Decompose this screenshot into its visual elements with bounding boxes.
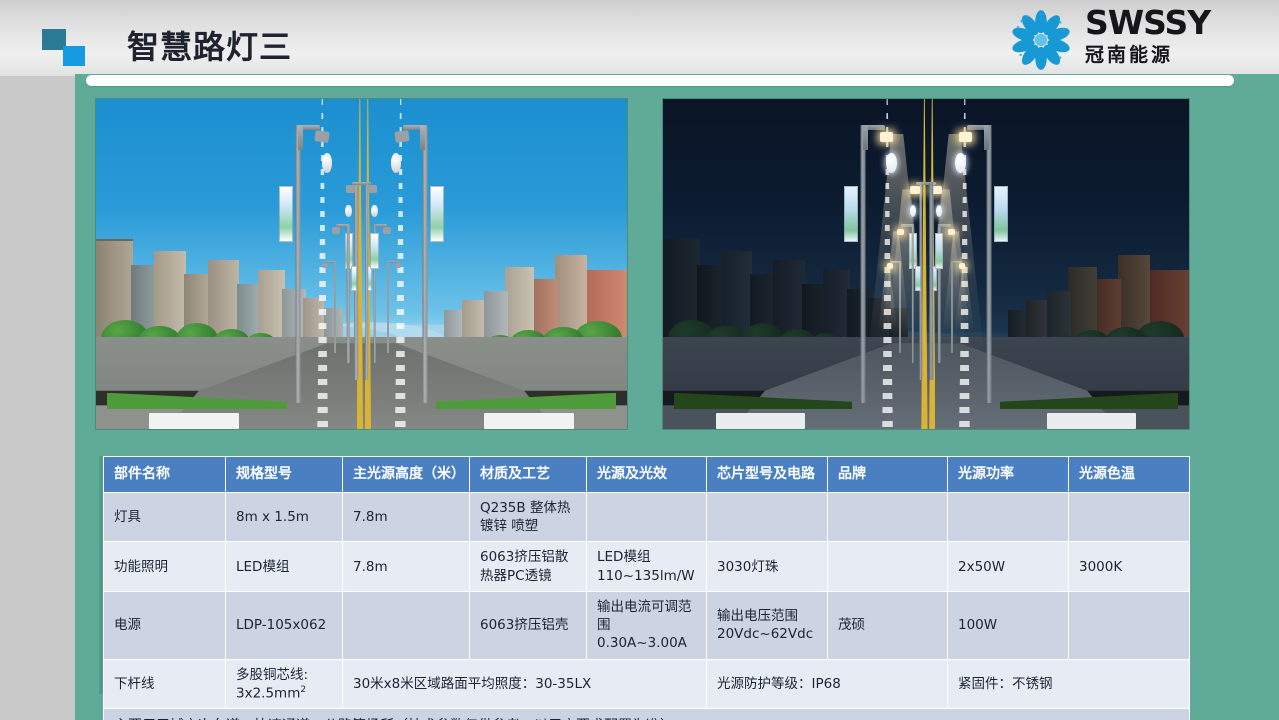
- spec-table-body: 灯具 8m x 1.5m 7.8m Q235B 整体热镀锌 喷塑 功能照明 LE…: [104, 493, 1190, 709]
- col-header-material: 材质及工艺: [470, 457, 587, 493]
- panel-top-rod: [86, 75, 1234, 86]
- cell-fastener: 紧固件：不锈钢: [948, 659, 1190, 709]
- cell-power: 100W: [948, 591, 1069, 659]
- cell-spec-model: LED模组: [226, 542, 343, 591]
- street-lamp-day: [383, 125, 468, 402]
- table-row: 功能照明 LED模组 7.8m 6063挤压铝散热器PC透镜 LED模组110~…: [104, 542, 1190, 591]
- cell-spec-model: LDP-105x062: [226, 591, 343, 659]
- page-header: 智慧路灯三: [0, 0, 1279, 76]
- cell-light-source: [587, 493, 707, 542]
- spec-table-head: 部件名称 规格型号 主光源高度（米） 材质及工艺 光源及光效 芯片型号及电路 品…: [104, 457, 1190, 493]
- image-row: [95, 98, 1190, 430]
- spec-table-container: 部件名称 规格型号 主光源高度（米） 材质及工艺 光源及光效 芯片型号及电路 品…: [99, 456, 1189, 694]
- spec-table: 部件名称 规格型号 主光源高度（米） 材质及工艺 光源及光效 芯片型号及电路 品…: [103, 456, 1190, 720]
- lamp-base-left-day: [149, 413, 239, 430]
- table-row: 电源 LDP-105x062 6063挤压铝壳 输出电流可调范围0.30A~3.…: [104, 591, 1190, 659]
- cell-color-temp: [1069, 493, 1190, 542]
- cell-material: 6063挤压铝散热器PC透镜: [470, 542, 587, 591]
- cell-chip-circuit: [707, 493, 828, 542]
- cell-lamp-height: 7.8m: [343, 542, 470, 591]
- table-row: 下杆线 多股铜芯线: 3x2.5mm2 30米x8米区域路面平均照度：30-35…: [104, 659, 1190, 709]
- cell-color-temp: 3000K: [1069, 542, 1190, 591]
- cell-material: Q235B 整体热镀锌 喷塑: [470, 493, 587, 542]
- water-drop-flower-logo-icon: [1005, 6, 1077, 74]
- cell-protection-rating: 光源防护等级：IP68: [707, 659, 948, 709]
- cell-light-source: LED模组110~135lm/W: [587, 542, 707, 591]
- street-lamp-night: [947, 125, 1031, 402]
- cell-part-name: 功能照明: [104, 542, 226, 591]
- lamp-base-right-night: [1047, 413, 1136, 430]
- nighttime-street-lamp-scene: [662, 98, 1190, 430]
- col-header-brand: 品牌: [828, 457, 948, 493]
- cell-chip-circuit: 3030灯珠: [707, 542, 828, 591]
- table-header-row: 部件名称 规格型号 主光源高度（米） 材质及工艺 光源及光效 芯片型号及电路 品…: [104, 457, 1190, 493]
- cell-brand: [828, 542, 948, 591]
- spec-table-foot: 主要用于城市次车道、快速通道、公路等场所（技术参数仅供参考，以用户要求配置为准）: [104, 709, 1190, 720]
- cell-brand: [828, 493, 948, 542]
- cell-lamp-height: [343, 591, 470, 659]
- logo-text-block: SWSSY 冠南能源: [1085, 6, 1260, 68]
- col-header-lamp-height: 主光源高度（米）: [343, 457, 470, 493]
- table-footer-row: 主要用于城市次车道、快速通道、公路等场所（技术参数仅供参考，以用户要求配置为准）: [104, 709, 1190, 720]
- daytime-street-lamp-scene: [95, 98, 628, 430]
- cell-power: [948, 493, 1069, 542]
- logo-name: SWSSY: [1085, 6, 1260, 40]
- square-light-icon: [63, 46, 85, 66]
- cell-chip-circuit: 输出电压范围20Vdc~62Vdc: [707, 591, 828, 659]
- cell-brand: 茂硕: [828, 591, 948, 659]
- cell-light-source: 输出电流可调范围0.30A~3.00A: [587, 591, 707, 659]
- col-header-chip-circuit: 芯片型号及电路: [707, 457, 828, 493]
- col-header-color-temp: 光源色温: [1069, 457, 1190, 493]
- decorative-squares: [42, 29, 88, 67]
- cable-spec-text: 多股铜芯线: 3x2.5mm: [236, 667, 308, 702]
- col-header-power: 光源功率: [948, 457, 1069, 493]
- cell-material: 6063挤压铝壳: [470, 591, 587, 659]
- cell-illuminance: 30米x8米区域路面平均照度：30-35LX: [343, 659, 707, 709]
- cell-part-name: 下杆线: [104, 659, 226, 709]
- col-header-light-source: 光源及光效: [587, 457, 707, 493]
- cell-spec-model: 8m x 1.5m: [226, 493, 343, 542]
- table-footer-note: 主要用于城市次车道、快速通道、公路等场所（技术参数仅供参考，以用户要求配置为准）: [104, 709, 1190, 720]
- brand-logo: SWSSY 冠南能源: [1005, 4, 1265, 76]
- cell-part-name: 灯具: [104, 493, 226, 542]
- cell-part-name: 电源: [104, 591, 226, 659]
- col-header-spec-model: 规格型号: [226, 457, 343, 493]
- logo-subtitle: 冠南能源: [1085, 42, 1260, 68]
- cable-spec-superscript: 2: [300, 685, 306, 695]
- cell-cable-spec: 多股铜芯线: 3x2.5mm2: [226, 659, 343, 709]
- lamp-base-left-night: [716, 413, 805, 430]
- page-title: 智慧路灯三: [127, 22, 292, 68]
- cell-lamp-height: 7.8m: [343, 493, 470, 542]
- cell-power: 2x50W: [948, 542, 1069, 591]
- table-row: 灯具 8m x 1.5m 7.8m Q235B 整体热镀锌 喷塑: [104, 493, 1190, 542]
- col-header-part-name: 部件名称: [104, 457, 226, 493]
- cell-color-temp: [1069, 591, 1190, 659]
- lamp-base-right-day: [484, 413, 574, 430]
